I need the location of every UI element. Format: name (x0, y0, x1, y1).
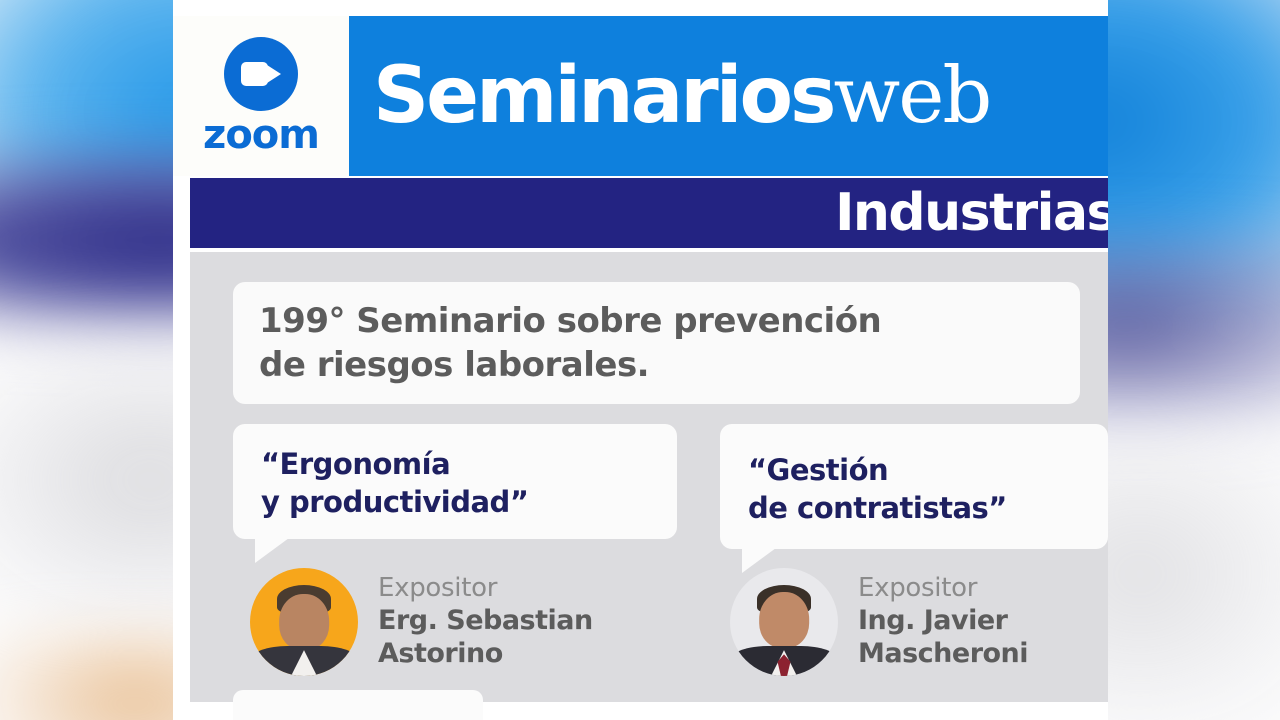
title-seminarios: Seminarios (373, 57, 833, 135)
portrait-icon (250, 568, 358, 676)
presenter-2-name-line1: Ing. Javier (858, 605, 1028, 638)
zoom-wordmark: zoom (203, 115, 319, 155)
presenter-1: Expositor Erg. Sebastian Astorino (250, 568, 593, 676)
topic-1-line2: y productividad” (261, 484, 677, 522)
presenter-1-role: Expositor (378, 573, 593, 604)
title-band: Seminarios web (349, 16, 1108, 176)
presenter-1-info: Expositor Erg. Sebastian Astorino (378, 573, 593, 670)
category-band: Industrias (190, 178, 1108, 248)
video-camera-icon (224, 37, 298, 111)
zoom-logo: zoom (173, 16, 349, 176)
presenter-2-role: Expositor (858, 573, 1028, 604)
title-web: web (833, 57, 990, 135)
presenter-2-info: Expositor Ing. Javier Mascheroni (858, 573, 1028, 670)
seminar-title-line2: de riesgos laborales. (259, 344, 1054, 388)
seminar-title-card: 199° Seminario sobre prevención de riesg… (233, 282, 1080, 404)
presenter-2: Expositor Ing. Javier Mascheroni (730, 568, 1028, 676)
seminar-title-line1: 199° Seminario sobre prevención (259, 300, 1054, 344)
avatar (730, 568, 838, 676)
flyer-body: 199° Seminario sobre prevención de riesg… (190, 252, 1108, 702)
category-label: Industrias (835, 187, 1108, 239)
presenter-1-name-line1: Erg. Sebastian (378, 605, 593, 638)
topic-bubble-gestion: “Gestión de contratistas” (720, 424, 1108, 549)
footer-card (233, 690, 483, 720)
flyer-header: zoom Seminarios web Industrias (173, 0, 1108, 248)
portrait-icon (730, 568, 838, 676)
topic-2-line1: “Gestión (748, 452, 1108, 490)
topic-2-line2: de contratistas” (748, 490, 1108, 528)
flyer-panel: zoom Seminarios web Industrias 199° Semi… (173, 0, 1108, 720)
presenter-2-name-line2: Mascheroni (858, 638, 1028, 671)
topic-1-line1: “Ergonomía (261, 446, 677, 484)
topic-bubble-ergonomia: “Ergonomía y productividad” (233, 424, 677, 539)
presenter-1-name-line2: Astorino (378, 638, 593, 671)
slide-stage: zoom Seminarios web Industrias 199° Semi… (0, 0, 1280, 720)
avatar (250, 568, 358, 676)
